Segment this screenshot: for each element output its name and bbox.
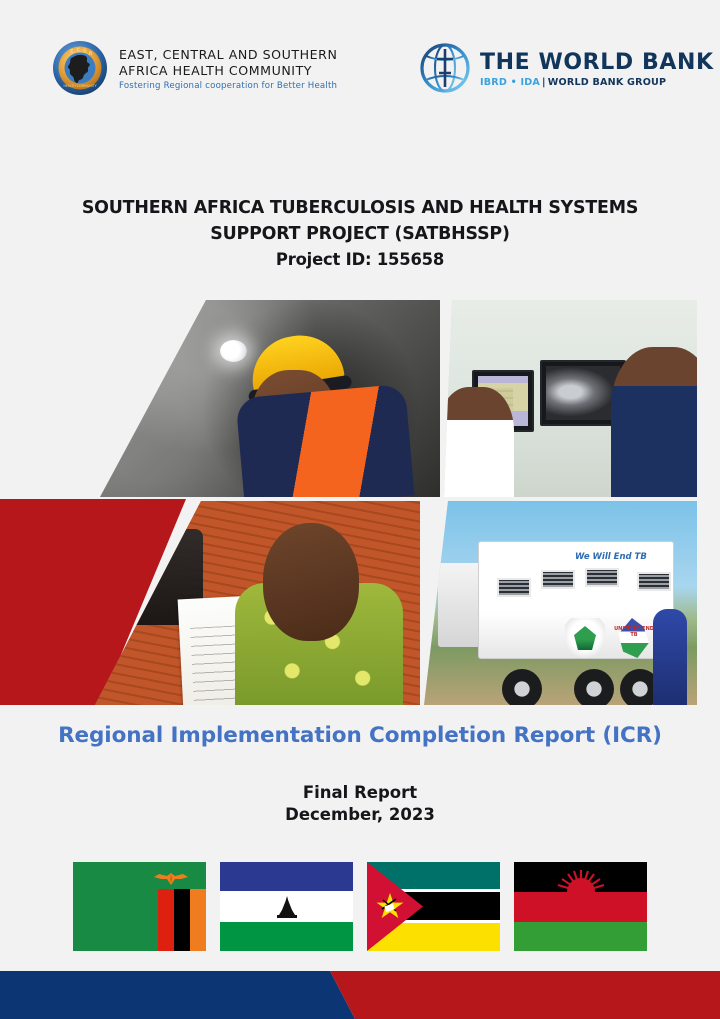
wb-ida-label: IDA (520, 77, 540, 88)
ecsa-logo: EC SA HEALTH COMMUNITY EAST, CENTRAL AND… (52, 40, 337, 96)
svg-text:C: C (77, 47, 81, 53)
report-type: Final Report (0, 782, 720, 804)
headlamp-icon (220, 340, 247, 362)
truck-vent-mid (541, 570, 575, 589)
unite-to-end-tb-text: UNITE TO END TB (610, 626, 658, 638)
photo-radiologist-reviewing-chest-xray (444, 300, 697, 497)
svg-text:E: E (70, 49, 74, 55)
flag-malawi (514, 862, 647, 951)
bottom-accent-bar (0, 971, 720, 1019)
zambia-eagle-icon (150, 870, 192, 888)
basotho-hat-icon (274, 896, 300, 920)
svg-text:S: S (83, 48, 87, 54)
title-line-1: SOUTHERN AFRICA TUBERCULOSIS AND HEALTH … (0, 195, 720, 221)
report-meta: Final Report December, 2023 (0, 782, 720, 826)
health-worker-right (611, 347, 697, 497)
zambia-stripe-black (174, 889, 190, 951)
malawi-band-red (514, 892, 647, 922)
photo-miner-with-headlamp (100, 300, 440, 497)
chest-xray-image (546, 366, 620, 420)
zambia-stripe-red (158, 889, 174, 951)
flag-zambia (73, 862, 206, 951)
clinic-worker (653, 609, 687, 705)
zambia-stripes (158, 889, 206, 951)
lesotho-coat-of-arms-icon (565, 618, 605, 660)
country-flags-row (0, 862, 720, 951)
wb-divider: | (540, 77, 548, 88)
woman-face (263, 523, 359, 641)
miner-hi-vis-vest (235, 384, 414, 497)
title-line-2: SUPPORT PROJECT (SATBHSSP) (0, 221, 720, 247)
truck-wheel-mid (574, 669, 614, 705)
photo-mobile-tb-screening-truck: We Will End TB UNITE TO END TB (424, 501, 697, 705)
svg-text:HEALTH COMMUNITY: HEALTH COMMUNITY (63, 84, 96, 88)
report-date: December, 2023 (0, 804, 720, 826)
world-bank-text-block: THE WORLD BANK IBRD • IDA|WORLD BANK GRO… (480, 48, 714, 88)
ecsa-name-line1: EAST, CENTRAL AND SOUTHERN (119, 47, 337, 63)
world-bank-name: THE WORLD BANK (480, 51, 714, 75)
logo-row: EC SA HEALTH COMMUNITY EAST, CENTRAL AND… (0, 36, 720, 114)
document-cover-page: EC SA HEALTH COMMUNITY EAST, CENTRAL AND… (0, 0, 720, 1019)
zambia-stripe-orange (190, 889, 206, 951)
truck-vent-far (637, 572, 671, 591)
mozambique-star-emblem-icon (376, 893, 404, 921)
lesotho-band-green (220, 922, 353, 951)
lesotho-band-blue (220, 862, 353, 891)
wb-group-label: WORLD BANK GROUP (548, 77, 667, 88)
report-subtitle: Regional Implementation Completion Repor… (0, 723, 720, 748)
health-worker-left (444, 387, 514, 497)
page-title: SOUTHERN AFRICA TUBERCULOSIS AND HEALTH … (0, 195, 720, 273)
wb-dot-separator: • (507, 77, 520, 88)
truck-container-body: We Will End TB UNITE TO END TB (478, 541, 674, 659)
truck-slogan-text: We Will End TB (575, 552, 647, 562)
wb-ibrd-label: IBRD (480, 77, 507, 88)
world-bank-logo: THE WORLD BANK IBRD • IDA|WORLD BANK GRO… (419, 42, 714, 94)
ecsa-text-block: EAST, CENTRAL AND SOUTHERN AFRICA HEALTH… (119, 45, 337, 91)
truck-wheel-front (502, 669, 542, 705)
svg-text:A: A (89, 51, 93, 57)
truck-vent-left (497, 578, 531, 597)
truck-vent-right (585, 568, 619, 587)
flag-mozambique (367, 862, 500, 951)
malawi-rising-sun-icon (553, 868, 609, 894)
unite-to-end-tb-emblem-icon (617, 618, 651, 658)
project-id: Project ID: 155658 (0, 247, 720, 273)
malawi-band-green (514, 922, 647, 951)
world-bank-globe-icon (419, 42, 471, 94)
ecsa-name-line2: AFRICA HEALTH COMMUNITY (119, 63, 337, 79)
ecsa-tagline: Fostering Regional cooperation for Bette… (119, 81, 337, 91)
world-bank-subtitle: IBRD • IDA|WORLD BANK GROUP (480, 77, 714, 88)
ecsa-africa-emblem-icon: EC SA HEALTH COMMUNITY (52, 40, 108, 96)
photo-collage: We Will End TB UNITE TO END TB (0, 300, 720, 705)
flag-lesotho (220, 862, 353, 951)
